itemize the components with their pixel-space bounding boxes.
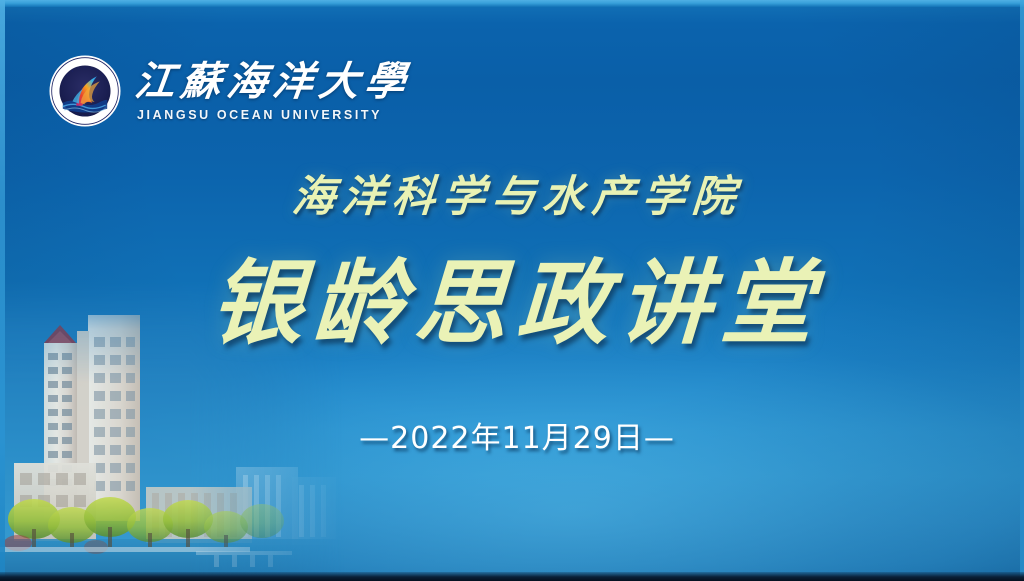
university-name-en: JIANGSU OCEAN UNIVERSITY xyxy=(137,108,411,123)
college-subtitle: 海洋科学与水产学院 xyxy=(8,168,1024,226)
title-block: 海洋科学与水产学院 银龄思政讲堂 —2022年11月29日— xyxy=(0,168,1024,458)
event-date: —2022年11月29日— xyxy=(10,420,1024,458)
left-edge-band xyxy=(0,0,5,581)
jiangsu-ocean-university-emblem-icon xyxy=(48,54,122,128)
university-name-cn: 江蘇海洋大學 xyxy=(132,59,414,105)
university-logo-lockup: 江蘇海洋大學 JIANGSU OCEAN UNIVERSITY xyxy=(48,54,411,128)
right-edge-band xyxy=(1020,0,1024,581)
presentation-slide: 江蘇海洋大學 JIANGSU OCEAN UNIVERSITY 海洋科学与水产学… xyxy=(0,0,1024,581)
page-title: 银龄思政讲堂 xyxy=(7,248,1024,358)
bottom-edge-band xyxy=(0,572,1024,581)
top-edge-band xyxy=(0,0,1024,7)
university-wordmark: 江蘇海洋大學 JIANGSU OCEAN UNIVERSITY xyxy=(135,59,411,123)
